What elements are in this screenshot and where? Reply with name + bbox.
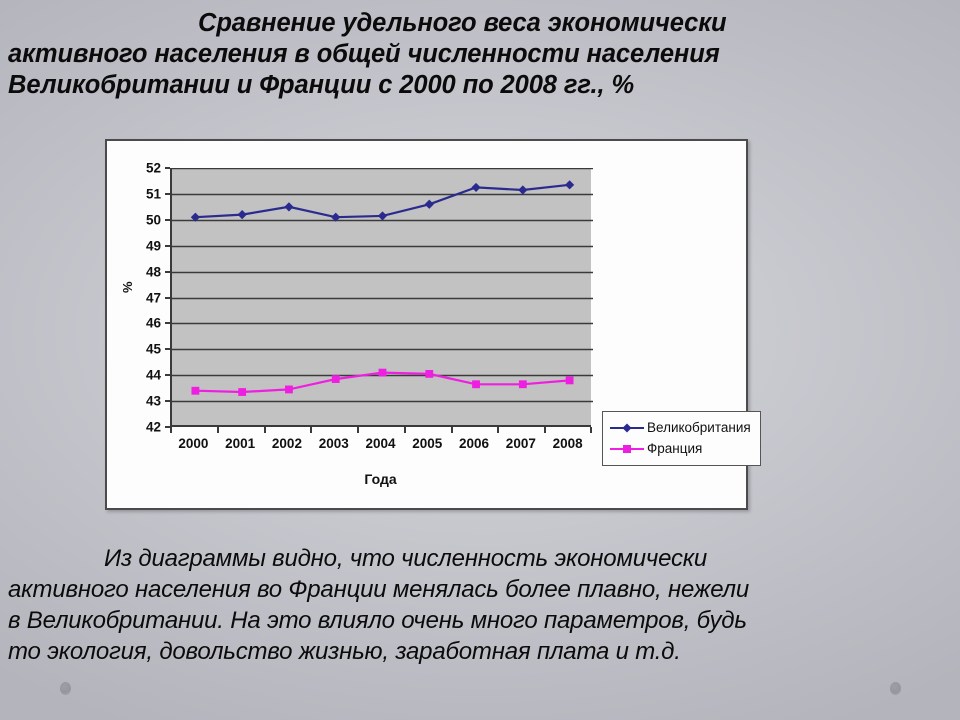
x-tick-label: 2002 bbox=[272, 436, 302, 451]
data-point-marker bbox=[425, 200, 434, 209]
y-tick-mark bbox=[165, 167, 170, 169]
x-tick-mark bbox=[544, 427, 546, 433]
y-tick-mark bbox=[165, 297, 170, 299]
y-axis-label: % bbox=[120, 281, 135, 293]
x-tick-label: 2003 bbox=[319, 436, 349, 451]
x-tick-label: 2008 bbox=[553, 436, 583, 451]
x-tick-mark bbox=[404, 427, 406, 433]
x-tick-mark bbox=[590, 427, 592, 433]
x-axis-label: Года bbox=[170, 471, 591, 487]
data-point-marker bbox=[238, 388, 246, 396]
x-tick-mark bbox=[264, 427, 266, 433]
data-point-marker bbox=[471, 183, 480, 192]
data-point-marker bbox=[565, 180, 574, 189]
title-line-3: Великобритании и Франции с 2000 по 2008 … bbox=[8, 70, 952, 101]
x-tick-mark bbox=[310, 427, 312, 433]
data-point-marker bbox=[566, 376, 574, 384]
y-tick-mark bbox=[165, 271, 170, 273]
y-tick-mark bbox=[165, 322, 170, 324]
x-tick-label: 2004 bbox=[365, 436, 395, 451]
plot-area bbox=[170, 168, 591, 427]
data-point-marker bbox=[518, 185, 527, 194]
body-line-2: активного населения во Франции менялась … bbox=[8, 574, 952, 605]
slide-canvas: Сравнение удельного веса экономически ак… bbox=[0, 0, 960, 720]
data-point-marker bbox=[238, 210, 247, 219]
title-line-2: активного населения в общей численности … bbox=[8, 39, 952, 70]
body-line-4: то экология, довольство жизнью, заработн… bbox=[8, 636, 952, 667]
data-point-marker bbox=[379, 369, 387, 377]
data-point-marker bbox=[378, 211, 387, 220]
x-tick-label: 2001 bbox=[225, 436, 255, 451]
data-point-marker bbox=[285, 386, 293, 394]
chart-svg bbox=[172, 168, 593, 427]
x-tick-label: 2000 bbox=[178, 436, 208, 451]
chart-card: % 5251504948474645444342 200020012002200… bbox=[105, 139, 748, 510]
title-line-1: Сравнение удельного веса экономически bbox=[8, 8, 952, 39]
legend-label: Великобритания bbox=[647, 420, 751, 435]
data-point-marker bbox=[284, 202, 293, 211]
x-tick-mark bbox=[451, 427, 453, 433]
chart-legend: ВеликобританияФранция bbox=[602, 411, 761, 466]
y-tick-mark bbox=[165, 374, 170, 376]
x-tick-mark bbox=[217, 427, 219, 433]
legend-label: Франция bbox=[647, 441, 702, 456]
y-tick-mark bbox=[165, 400, 170, 402]
legend-key-diamond-icon bbox=[610, 422, 644, 434]
plot-area-wrapper: 5251504948474645444342 20002001200220032… bbox=[170, 168, 591, 427]
data-point-marker bbox=[332, 375, 340, 383]
x-tick-mark bbox=[170, 427, 172, 433]
x-tick-label: 2005 bbox=[412, 436, 442, 451]
y-tick-mark bbox=[165, 348, 170, 350]
body-line-3: в Великобритании. На это влияло очень мн… bbox=[8, 605, 952, 636]
x-tick-mark bbox=[357, 427, 359, 433]
decorative-dot-right bbox=[890, 682, 901, 695]
data-point-marker bbox=[472, 380, 480, 388]
legend-item[interactable]: Франция bbox=[610, 438, 751, 459]
legend-key-square-icon bbox=[610, 443, 644, 455]
data-point-marker bbox=[519, 380, 527, 388]
y-tick-mark bbox=[165, 245, 170, 247]
x-tick-mark bbox=[497, 427, 499, 433]
decorative-dot-left bbox=[60, 682, 71, 695]
x-tick-label: 2006 bbox=[459, 436, 489, 451]
body-line-1: Из диаграммы видно, что численность экон… bbox=[8, 543, 952, 574]
slide-title: Сравнение удельного веса экономически ак… bbox=[8, 8, 952, 101]
legend-item[interactable]: Великобритания bbox=[610, 417, 751, 438]
y-tick-mark bbox=[165, 219, 170, 221]
data-point-marker bbox=[191, 387, 199, 395]
data-point-marker bbox=[425, 370, 433, 378]
y-tick-mark bbox=[165, 193, 170, 195]
slide-body-text: Из диаграммы видно, что численность экон… bbox=[8, 543, 952, 667]
x-tick-label: 2007 bbox=[506, 436, 536, 451]
